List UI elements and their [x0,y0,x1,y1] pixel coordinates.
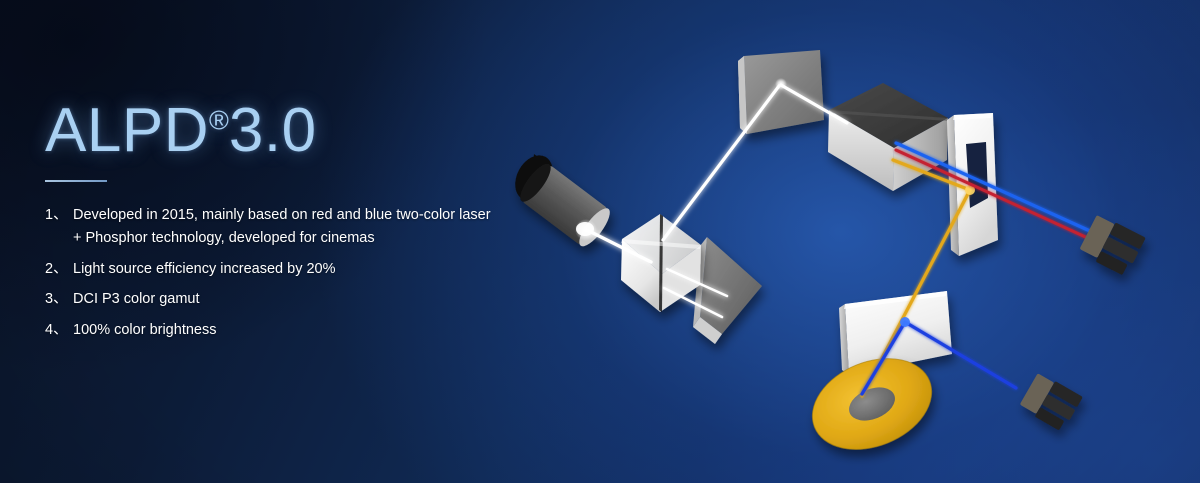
alpd-banner: ALPD®3.0 1、 Developed in 2015, mainly ba… [0,0,1200,483]
list-item: 2、 Light source efficiency increased by … [45,258,515,281]
list-item: 3、 DCI P3 color gamut [45,288,515,311]
blue-hotspot [900,317,910,327]
list-item-text: 100% color brightness [73,319,493,342]
title-version: 3.0 [229,96,317,165]
title-divider [45,180,107,182]
page-title: ALPD®3.0 [45,100,515,162]
beam-white-cube-to-upper-mirror [663,86,779,240]
text-content-block: ALPD®3.0 1、 Developed in 2015, mainly ba… [45,100,515,349]
list-item: 4、 100% color brightness [45,319,515,342]
title-brand: ALPD [45,96,209,165]
list-item-number: 3、 [45,288,73,311]
list-item-number: 4、 [45,319,73,342]
feature-list: 1、 Developed in 2015, mainly based on re… [45,204,515,342]
mirror-hotspot [775,78,787,90]
registered-trademark-icon: ® [209,105,229,135]
blue-laser-emitter [1018,372,1083,433]
lower-fold-mirror [693,237,762,344]
list-item-number: 1、 [45,204,73,227]
list-item-text: Light source efficiency increased by 20% [73,258,493,281]
list-item-text: DCI P3 color gamut [73,288,493,311]
red-blue-output-emitter [1078,213,1146,277]
list-item: 1、 Developed in 2015, mainly based on re… [45,204,515,251]
list-item-text: Developed in 2015, mainly based on red a… [73,204,493,251]
phosphor-wheel [799,342,945,466]
beam-splitter-cube [621,214,701,312]
list-item-number: 2、 [45,258,73,281]
